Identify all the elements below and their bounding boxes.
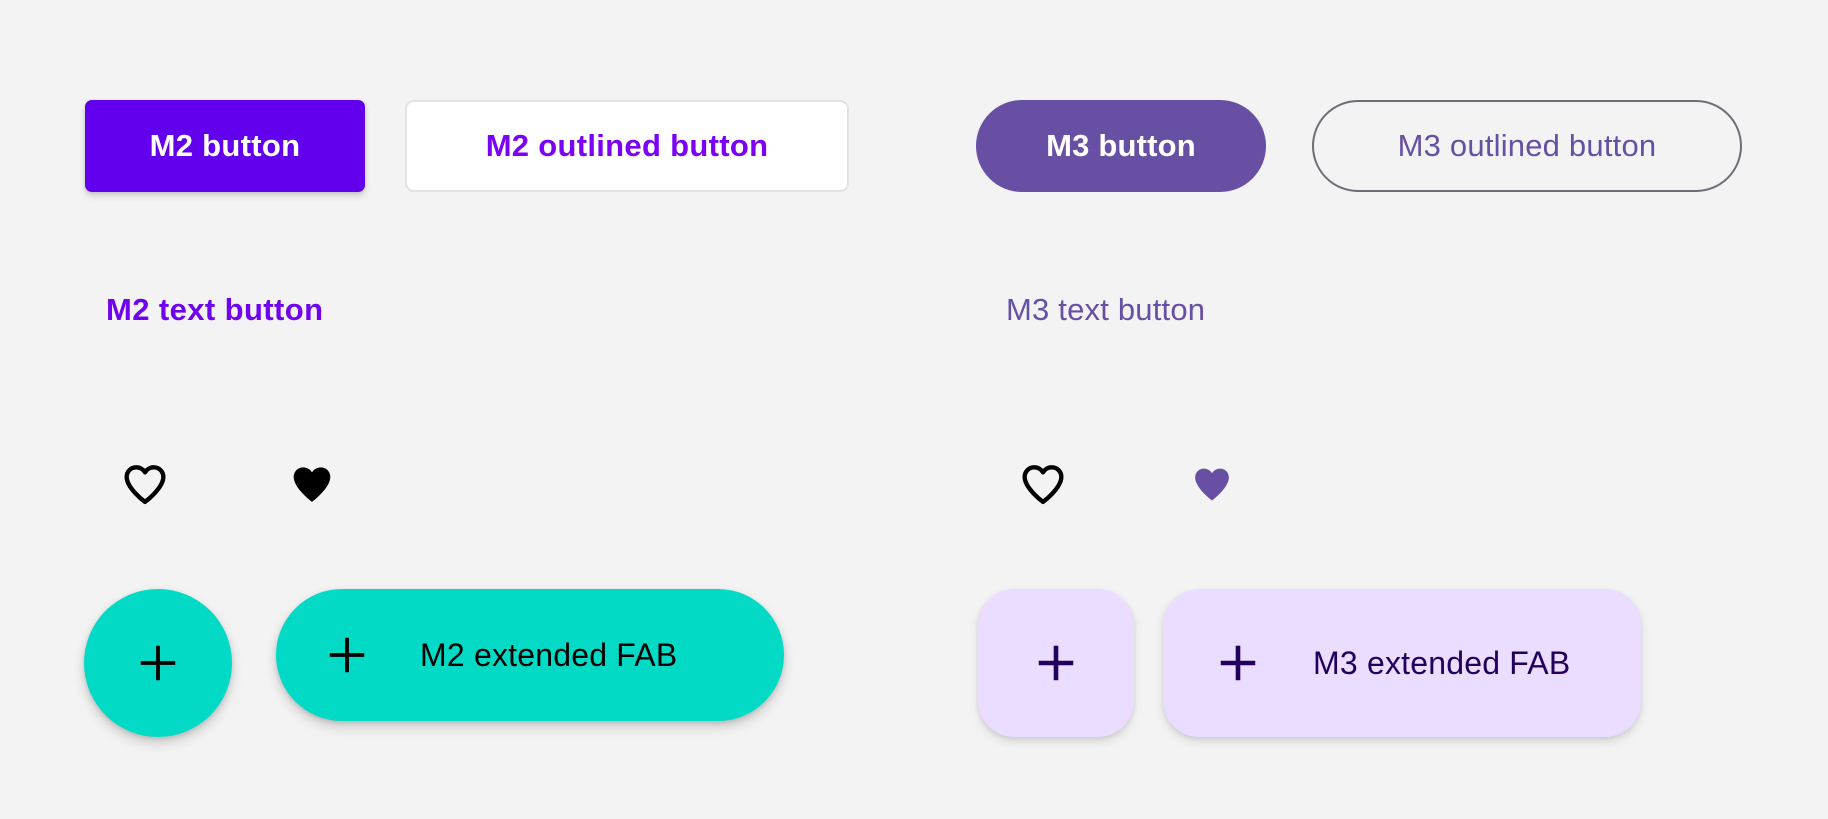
plus-icon bbox=[135, 640, 181, 686]
m2-outlined-button[interactable]: M2 outlined button bbox=[405, 100, 849, 192]
plus-icon bbox=[324, 632, 370, 678]
m3-fab[interactable] bbox=[978, 589, 1134, 737]
m2-favorite-outline-icon-button[interactable] bbox=[116, 455, 174, 513]
m2-text-button-label: M2 text button bbox=[106, 292, 323, 327]
m2-fab[interactable] bbox=[84, 589, 232, 737]
m2-extended-fab-label: M2 extended FAB bbox=[420, 637, 677, 674]
m3-extended-fab[interactable]: M3 extended FAB bbox=[1163, 589, 1641, 737]
plus-icon bbox=[1033, 640, 1079, 686]
m3-outlined-button[interactable]: M3 outlined button bbox=[1312, 100, 1742, 192]
m2-extended-fab[interactable]: M2 extended FAB bbox=[276, 589, 784, 721]
m2-contained-button[interactable]: M2 button bbox=[85, 100, 365, 192]
m3-contained-button-label: M3 button bbox=[1046, 128, 1196, 164]
component-showcase-canvas: M2 button M2 outlined button M3 button M… bbox=[0, 0, 1828, 819]
m3-contained-button[interactable]: M3 button bbox=[976, 100, 1266, 192]
m3-text-button-label: M3 text button bbox=[1006, 292, 1205, 327]
m2-contained-button-label: M2 button bbox=[150, 128, 301, 164]
m3-extended-fab-label: M3 extended FAB bbox=[1313, 645, 1570, 682]
m3-favorite-outline-icon-button[interactable] bbox=[1014, 455, 1072, 513]
m2-text-button[interactable]: M2 text button bbox=[106, 292, 323, 328]
m2-favorite-filled-icon-button[interactable] bbox=[283, 455, 341, 513]
heart-filled-icon bbox=[285, 459, 339, 509]
heart-filled-icon bbox=[1187, 461, 1237, 507]
plus-icon bbox=[1215, 640, 1261, 686]
heart-outline-icon bbox=[1016, 459, 1070, 509]
heart-outline-icon bbox=[118, 459, 172, 509]
m3-favorite-filled-icon-button[interactable] bbox=[1183, 455, 1241, 513]
m3-outlined-button-label: M3 outlined button bbox=[1398, 128, 1657, 164]
m3-text-button[interactable]: M3 text button bbox=[1006, 292, 1205, 328]
m2-outlined-button-label: M2 outlined button bbox=[486, 128, 769, 164]
